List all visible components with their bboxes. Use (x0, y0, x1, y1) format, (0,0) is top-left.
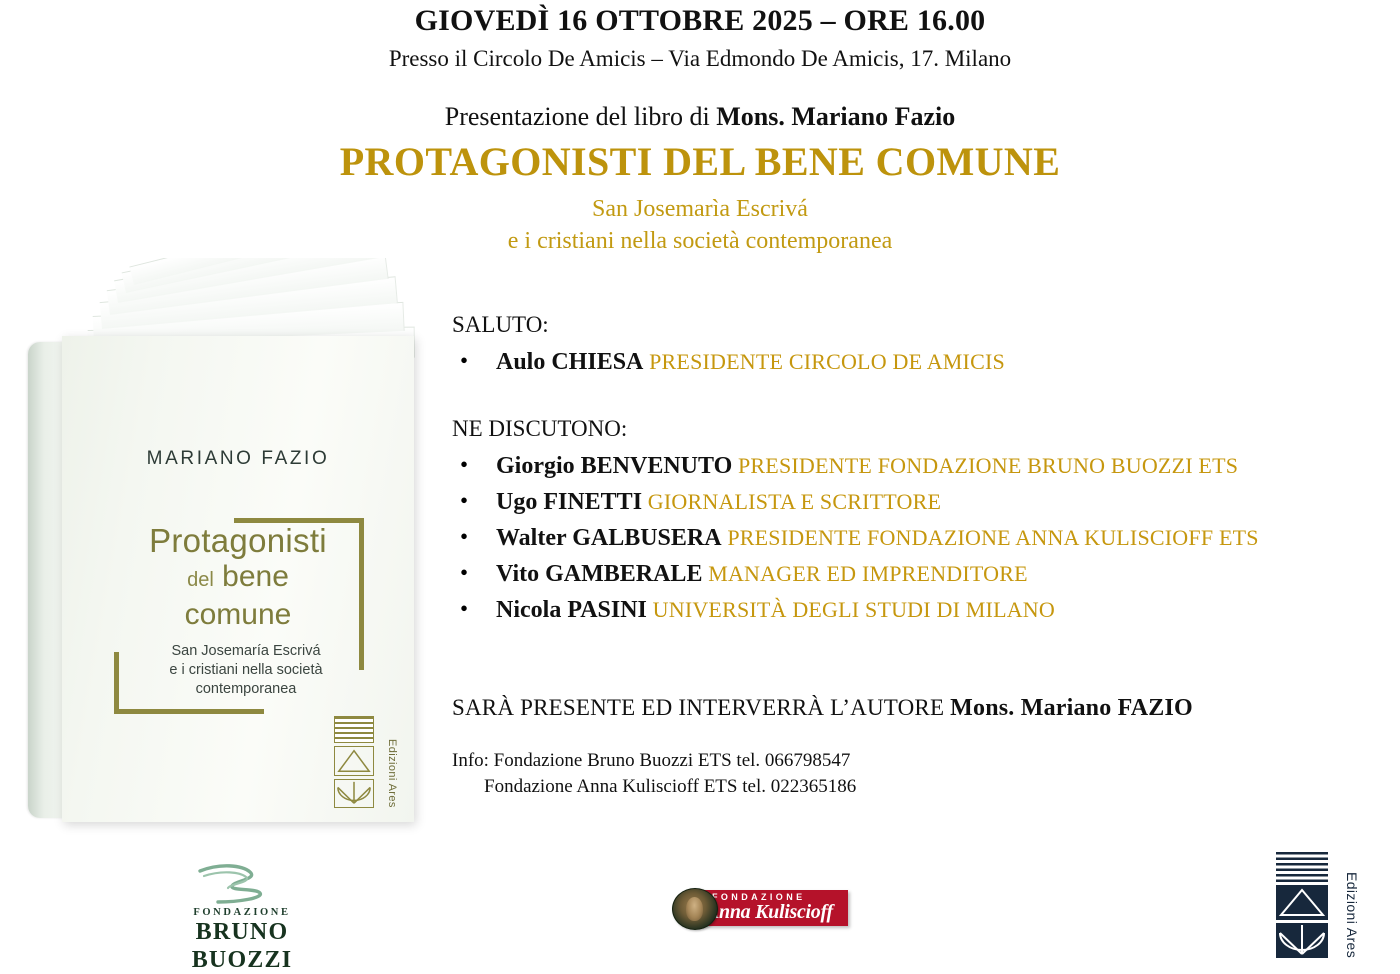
event-venue-line: Presso il Circolo De Amicis – Via Edmond… (0, 44, 1400, 74)
contact-info-line-2: Fondazione Anna Kuliscioff ETS tel. 0223… (452, 774, 1372, 800)
book-cover-publisher-name: Edizioni Ares (386, 739, 398, 808)
person-name: Ugo FINETTI (496, 489, 642, 515)
page-title: PROTAGONISTI DEL BENE COMUNE (0, 138, 1400, 186)
person-role: PRESIDENTE FONDAZIONE ANNA KULISCIOFF ET… (727, 525, 1258, 550)
book-cover-title-bene: bene (222, 560, 289, 593)
book-cover-subtitle: San Josemaría Escrivá e i cristiani nell… (102, 642, 390, 699)
book-cover-author: MARIANO FAZIO (62, 448, 414, 470)
program-content: SALUTO: Aulo CHIESA PRESIDENTE CIRCOLO D… (452, 310, 1372, 800)
ares-lines-icon (1276, 852, 1328, 882)
book-body: MARIANO FAZIO Protagonisti del bene comu… (28, 336, 414, 822)
logo-fondazione-anna-kuliscioff: FONDAZIONE Anna Kuliscioff (672, 888, 852, 930)
kuliscioff-name-label: Anna Kuliscioff (706, 901, 833, 924)
list-item: Giorgio BENVENUTO PRESIDENTE FONDAZIONE … (452, 448, 1372, 484)
author-presence-prefix: SARÀ PRESENTE ED INTERVERRÀ L’AUTORE (452, 695, 950, 720)
ares-compass-icon (1276, 923, 1328, 958)
author-presence-name: Mons. Mariano FAZIO (950, 695, 1193, 721)
person-role: GIORNALISTA E SCRITTORE (648, 489, 941, 514)
ares-name-label: Edizioni Ares (1344, 872, 1360, 958)
book-cover-publisher-logo: Edizioni Ares (334, 716, 396, 808)
list-item: Aulo CHIESA PRESIDENTE CIRCOLO DE AMICIS (452, 344, 1372, 380)
ares-triangle-icon (334, 746, 374, 776)
list-item: Walter GALBUSERA PRESIDENTE FONDAZIONE A… (452, 520, 1372, 556)
buozzi-fondazione-label: FONDAZIONE (152, 907, 332, 918)
event-date-heading: GIOVEDÌ 16 OTTOBRE 2025 – ORE 16.00 (0, 2, 1400, 40)
list-item: Vito GAMBERALE MANAGER ED IMPRENDITORE (452, 556, 1372, 592)
person-role: MANAGER ED IMPRENDITORE (708, 561, 1028, 586)
person-name: Vito GAMBERALE (496, 561, 702, 587)
person-role: PRESIDENTE FONDAZIONE BRUNO BUOZZI ETS (738, 453, 1238, 478)
person-name: Giorgio BENVENUTO (496, 453, 732, 479)
person-name: Walter GALBUSERA (496, 525, 722, 551)
person-name: Aulo CHIESA (496, 349, 643, 375)
ares-triangle-icon (1276, 885, 1328, 920)
discussion-section-label: NE DISCUTONO: (452, 414, 1372, 444)
buozzi-name-label: BRUNO BUOZZI (152, 918, 332, 974)
author-presence-line: SARÀ PRESENTE ED INTERVERRÀ L’AUTORE Mon… (452, 692, 1372, 724)
greeting-people-list: Aulo CHIESA PRESIDENTE CIRCOLO DE AMICIS (452, 344, 1372, 380)
contact-info-line-1: Info: Fondazione Bruno Buozzi ETS tel. 0… (452, 748, 1372, 774)
kuliscioff-portrait-icon (672, 888, 718, 930)
book-cover-image: MARIANO FAZIO Protagonisti del bene comu… (28, 258, 438, 828)
list-item: Ugo FINETTI GIORNALISTA E SCRITTORE (452, 484, 1372, 520)
ares-lines-icon (334, 716, 374, 743)
book-cover-title-line-1: Protagonisti (62, 522, 414, 560)
person-role: PRESIDENTE CIRCOLO DE AMICIS (649, 349, 1005, 374)
section-gap (452, 380, 1372, 414)
logo-fondazione-bruno-buozzi: FONDAZIONE BRUNO BUOZZI (152, 862, 332, 958)
subtitle-line-2: e i cristiani nella società contemporane… (0, 226, 1400, 256)
book-cover-title-line-3: comune (62, 598, 414, 632)
contact-info: Info: Fondazione Bruno Buozzi ETS tel. 0… (452, 748, 1372, 800)
book-cover-title-del: del (187, 569, 214, 591)
discussion-people-list: Giorgio BENVENUTO PRESIDENTE FONDAZIONE … (452, 448, 1372, 628)
greeting-section-label: SALUTO: (452, 310, 1372, 340)
presentation-line: Presentazione del libro di Mons. Mariano… (0, 100, 1400, 134)
logo-edizioni-ares: Edizioni Ares (1276, 852, 1360, 958)
book-cover-title-line-2: del bene (62, 560, 414, 594)
person-role: UNIVERSITÀ DEGLI STUDI DI MILANO (653, 597, 1055, 622)
person-name: Nicola PASINI (496, 597, 647, 623)
list-item: Nicola PASINI UNIVERSITÀ DEGLI STUDI DI … (452, 592, 1372, 628)
subtitle-line-1: San Josemarìa Escrivá (0, 194, 1400, 224)
ares-compass-icon (334, 779, 374, 808)
presentation-author: Mons. Mariano Fazio (716, 102, 955, 131)
buozzi-swirl-icon (198, 862, 286, 906)
presentation-prefix: Presentazione del libro di (445, 102, 716, 131)
book-front-cover: MARIANO FAZIO Protagonisti del bene comu… (62, 336, 414, 822)
